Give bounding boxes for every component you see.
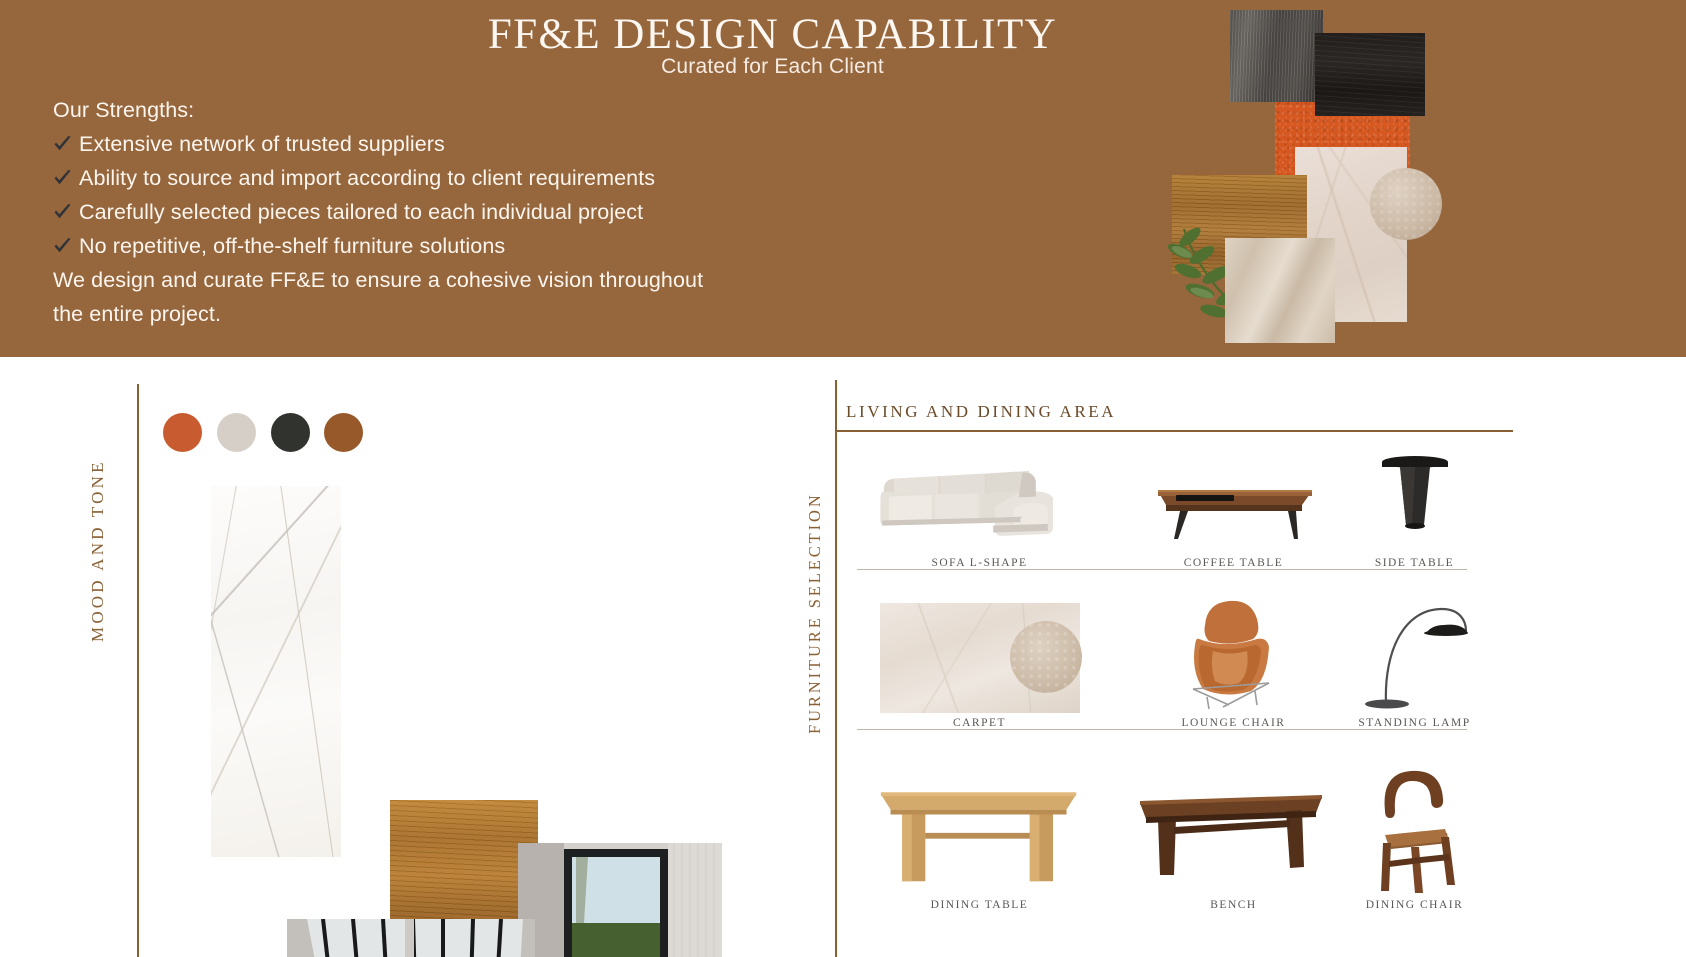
strengths-block: Our Strengths: Extensive network of trus…: [53, 93, 813, 331]
row-divider: [857, 569, 1467, 570]
strength-label: No repetitive, off-the-shelf furniture s…: [79, 229, 505, 263]
check-icon: [53, 169, 72, 188]
furniture-caption: SIDE TABLE: [1312, 557, 1517, 569]
furniture-divider: [835, 380, 837, 957]
furniture-item-sofa-l-shape[interactable]: SOFA L-SHAPE: [877, 435, 1082, 569]
woven-round-swatch: [1370, 168, 1442, 240]
furniture-item-bench[interactable]: BENCH: [1131, 755, 1336, 911]
bench-icon: [1131, 755, 1336, 895]
strength-label: Extensive network of trusted suppliers: [79, 127, 445, 161]
furniture-selection-panel: FURNITURE SELECTION LIVING AND DINING AR…: [795, 357, 1686, 957]
carpet-icon: [877, 595, 1082, 713]
furniture-item-side-table[interactable]: SIDE TABLE: [1312, 435, 1517, 569]
check-icon: [53, 237, 72, 256]
furniture-item-dining-chair[interactable]: DINING CHAIR: [1312, 755, 1517, 911]
check-icon: [53, 203, 72, 222]
mood-and-tone-label: MOOD AND TONE: [88, 459, 108, 642]
furniture-item-dining-table[interactable]: DINING TABLE: [877, 755, 1082, 911]
row-divider: [857, 729, 1467, 730]
furniture-caption: LOUNGE CHAIR: [1131, 717, 1336, 729]
furniture-caption: CARPET: [877, 717, 1082, 729]
mood-and-tone-panel: MOOD AND TONE: [0, 357, 840, 957]
section-title-rule: [836, 430, 1513, 432]
section-title-living-dining: LIVING AND DINING AREA: [846, 402, 1116, 422]
dining-table-icon: [877, 755, 1082, 895]
calacatta-marble-slab: [211, 486, 341, 857]
slide-root: FF&E DESIGN CAPABILITY Curated for Each …: [0, 0, 1686, 957]
furniture-item-lounge-chair[interactable]: LOUNGE CHAIR: [1131, 595, 1336, 729]
closing-line-1: We design and curate FF&E to ensure a co…: [53, 263, 813, 297]
palette-swatch-saddle-brown: [324, 413, 363, 452]
furniture-caption: DINING CHAIR: [1312, 899, 1517, 911]
strength-item: Extensive network of trusted suppliers: [53, 127, 813, 161]
furniture-caption: DINING TABLE: [877, 899, 1082, 911]
material-collage: [1160, 0, 1686, 357]
check-icon: [53, 135, 72, 154]
dining-room-aerial-photo: [287, 919, 535, 957]
palette-swatch-warm-grey: [217, 413, 256, 452]
side-table-icon: [1312, 435, 1517, 553]
living-room-interior-photo: [518, 843, 722, 957]
furniture-caption: STANDING LAMP: [1312, 717, 1517, 729]
brushed-metal-swatch: [1230, 10, 1323, 102]
palette-swatch-terracotta: [163, 413, 202, 452]
linen-fabric-swatch: [1225, 238, 1335, 343]
furniture-item-coffee-table[interactable]: COFFEE TABLE: [1131, 435, 1336, 569]
palette-swatch-charcoal: [271, 413, 310, 452]
strength-label: Carefully selected pieces tailored to ea…: [79, 195, 643, 229]
boards-area: MOOD AND TONE: [0, 357, 1686, 957]
furniture-selection-label: FURNITURE SELECTION: [805, 492, 825, 734]
header-banner: FF&E DESIGN CAPABILITY Curated for Each …: [0, 0, 1686, 357]
strength-item: No repetitive, off-the-shelf furniture s…: [53, 229, 813, 263]
black-oak-wood-swatch: [1315, 33, 1425, 116]
closing-line-2: the entire project.: [53, 297, 813, 331]
mood-divider: [137, 384, 139, 957]
strength-item: Ability to source and import according t…: [53, 161, 813, 195]
strength-item: Carefully selected pieces tailored to ea…: [53, 195, 813, 229]
coffee-table-icon: [1131, 435, 1336, 553]
sofa-l-shape-icon: [877, 435, 1082, 553]
furniture-caption: SOFA L-SHAPE: [877, 557, 1082, 569]
furniture-item-carpet[interactable]: CARPET: [877, 595, 1082, 729]
furniture-item-standing-lamp[interactable]: STANDING LAMP: [1312, 595, 1517, 729]
closing-paragraph: We design and curate FF&E to ensure a co…: [53, 263, 813, 331]
strength-label: Ability to source and import according t…: [79, 161, 655, 195]
strengths-heading: Our Strengths:: [53, 93, 813, 127]
furniture-caption: BENCH: [1131, 899, 1336, 911]
standing-lamp-icon: [1312, 595, 1517, 713]
furniture-caption: COFFEE TABLE: [1131, 557, 1336, 569]
dining-chair-icon: [1312, 755, 1517, 895]
lounge-chair-icon: [1131, 595, 1336, 713]
